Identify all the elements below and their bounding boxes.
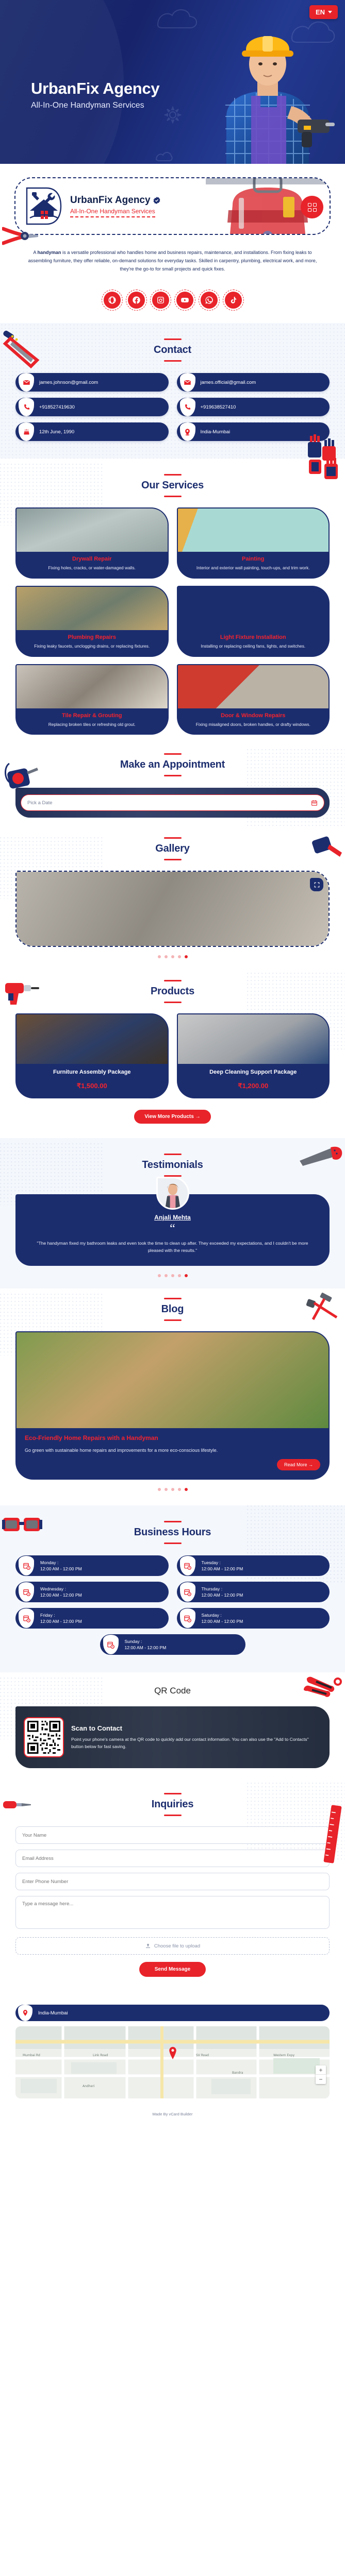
screwdriver-decoration <box>2 1792 33 1817</box>
name-input[interactable] <box>15 1826 330 1844</box>
calendar-clock-icon <box>19 1608 34 1628</box>
contact-section: Contact james.johnson@gmail.com james.of… <box>0 323 345 459</box>
contact-value: james.johnson@gmail.com <box>39 380 98 385</box>
contact-title: Contact <box>0 344 345 356</box>
email-input[interactable] <box>15 1850 330 1867</box>
gallery-image-card[interactable] <box>15 871 330 947</box>
calendar-clock-icon <box>19 1556 34 1575</box>
testimonial-author: Anjali Mehta <box>29 1214 316 1221</box>
service-image <box>178 665 329 708</box>
avatar <box>156 1177 189 1210</box>
grid-menu-icon <box>308 203 317 212</box>
brand-block: UrbanFix Agency All-In-One Handyman Serv… <box>70 195 160 217</box>
map-location-label: India-Mumbai <box>38 2010 68 2016</box>
service-image <box>17 509 168 552</box>
qr-description: Point your phone's camera at the QR code… <box>71 1736 321 1751</box>
appointment-heading: Make an Appointment <box>0 753 345 776</box>
gallery-heading: Gallery <box>0 837 345 860</box>
business-hour-row: Friday :12:00 AM - 12:00 PM <box>15 1608 169 1629</box>
contact-phone-2[interactable]: +919638527410 <box>177 398 330 416</box>
gallery-carousel-dots[interactable] <box>0 947 345 958</box>
product-price: ₹1,200.00 <box>182 1082 325 1090</box>
blog-post-title: Eco-Friendly Home Repairs with a Handyma… <box>25 1434 320 1442</box>
svg-text:Andheri: Andheri <box>83 2084 95 2088</box>
grid-menu-button[interactable] <box>301 196 323 218</box>
tape-measure-decoration <box>3 760 39 792</box>
blog-title-heading: Blog <box>0 1303 345 1315</box>
testimonials-section: Testimonials Anjali Mehta “ "The handyma… <box>0 1138 345 1288</box>
carousel-dot-active[interactable] <box>185 1274 188 1277</box>
envelope-icon <box>19 373 34 392</box>
send-message-button[interactable]: Send Message <box>139 1962 206 1977</box>
inquiry-form: Choose file to upload Send Message <box>15 1826 330 1977</box>
svg-text:Link Road: Link Road <box>93 2054 108 2057</box>
business-hour-row: Wednesday :12:00 AM - 12:00 PM <box>15 1582 169 1602</box>
map-zoom-controls[interactable]: + − <box>316 2065 326 2084</box>
product-price: ₹1,500.00 <box>21 1082 163 1090</box>
map-zoom-out-button[interactable]: − <box>316 2075 326 2084</box>
service-title: Light Fixture Installation <box>182 634 325 640</box>
map-pin-marker <box>168 2046 177 2060</box>
contact-birthday: 12th June, 1990 <box>15 422 169 441</box>
service-title: Drywall Repair <box>21 556 163 562</box>
product-image <box>17 1014 168 1064</box>
inquiries-heading: Inquiries <box>0 1793 345 1816</box>
calendar-clock-icon <box>180 1556 195 1575</box>
map-section: India-Mumbai Mumbai Rd Link Road SV Road… <box>0 2005 345 2104</box>
calendar-clock-icon <box>103 1635 119 1654</box>
business-hours-title: Business Hours <box>0 1527 345 1538</box>
day-label: Monday : <box>40 1560 169 1565</box>
location-pin-icon <box>180 422 195 441</box>
business-hours-sunday-row: Sunday :12:00 AM - 12:00 PM <box>0 1629 345 1655</box>
contact-heading: Contact <box>0 338 345 362</box>
product-image <box>178 1014 329 1064</box>
service-card[interactable]: Painting Interior and exterior wall pain… <box>177 507 330 579</box>
contact-email-2[interactable]: james.official@gmail.com <box>177 373 330 392</box>
business-hours-section: Business Hours Monday :12:00 AM - 12:00 … <box>0 1505 345 1672</box>
envelope-icon <box>180 373 195 392</box>
brand-name: UrbanFix Agency <box>70 195 160 206</box>
services-title: Our Services <box>0 480 345 492</box>
products-title: Products <box>0 986 345 997</box>
blog-card[interactable]: Eco-Friendly Home Repairs with a Handyma… <box>15 1331 330 1480</box>
qr-section: QR Code <box>0 1672 345 1783</box>
business-hour-row: Monday :12:00 AM - 12:00 PM <box>15 1555 169 1576</box>
file-upload-field[interactable]: Choose file to upload <box>15 1937 330 1955</box>
file-upload-label: Choose file to upload <box>154 1943 200 1949</box>
whatsapp-icon[interactable] <box>201 292 218 309</box>
day-label: Thursday : <box>202 1586 330 1591</box>
carousel-dot[interactable] <box>165 955 168 958</box>
intro-bold-word: handyman <box>38 250 61 255</box>
wrench-decoration <box>302 1675 342 1700</box>
svg-text:Mumbai Rd: Mumbai Rd <box>23 2054 40 2057</box>
svg-text:Bandra: Bandra <box>232 2071 243 2075</box>
heading-bar-bottom <box>164 1319 182 1321</box>
footer-credit: Made By vCard Builder <box>0 2104 345 2124</box>
testimonials-heading: Testimonials <box>0 1154 345 1177</box>
handsaw-decoration <box>1 330 45 368</box>
calendar-icon <box>311 800 318 806</box>
service-desc: Interior and exterior wall painting, tou… <box>182 565 325 571</box>
date-picker-input[interactable]: Pick a Date <box>21 794 324 811</box>
social-links <box>0 278 345 323</box>
services-grid: Drywall Repair Fixing holes, cracks, or … <box>0 497 345 735</box>
product-title: Furniture Assembly Package <box>21 1069 163 1076</box>
products-grid: Furniture Assembly Package ₹1,500.00 Dee… <box>0 1003 345 1098</box>
service-title: Painting <box>182 556 325 562</box>
appointment-section: Make an Appointment Pick a Date <box>0 749 345 832</box>
blog-heading: Blog <box>0 1298 345 1321</box>
heading-bar-top <box>164 338 182 340</box>
gallery-section: Gallery <box>0 832 345 973</box>
day-time: 12:00 AM - 12:00 PM <box>40 1592 169 1598</box>
cake-icon <box>19 422 34 441</box>
contact-value: 12th June, 1990 <box>39 429 74 435</box>
website-icon[interactable] <box>104 292 121 309</box>
blog-excerpt: Go green with sustainable home repairs a… <box>25 1447 320 1454</box>
map-location-bar: India-Mumbai <box>15 2005 330 2021</box>
product-card[interactable]: Deep Cleaning Support Package ₹1,200.00 <box>177 1013 330 1098</box>
contact-value: +919638527410 <box>201 404 236 410</box>
services-section: Our Services Drywall Repair Fixing holes… <box>0 459 345 749</box>
paint-scraper-decoration <box>310 835 344 863</box>
appointment-title: Make an Appointment <box>0 759 345 771</box>
intro-paragraph: A handyman is a versatile professional w… <box>21 248 324 273</box>
heading-bar-top <box>164 474 182 476</box>
expand-icon <box>314 882 320 888</box>
profile-section: UrbanFix Agency All-In-One Handyman Serv… <box>0 164 345 278</box>
business-hours-heading: Business Hours <box>0 1521 345 1544</box>
heading-bar-bottom <box>164 1815 182 1816</box>
heading-bar-top <box>164 1298 182 1299</box>
day-label: Sunday : <box>125 1639 245 1644</box>
intro-lead: A <box>33 250 37 255</box>
contact-phone-1[interactable]: +918527419630 <box>15 398 169 416</box>
verified-badge-icon <box>153 197 160 204</box>
contact-email-1[interactable]: james.johnson@gmail.com <box>15 373 169 392</box>
day-time: 12:00 AM - 12:00 PM <box>202 1566 330 1571</box>
day-time: 12:00 AM - 12:00 PM <box>202 1619 330 1624</box>
service-title: Plumbing Repairs <box>21 634 163 640</box>
contact-grid: james.johnson@gmail.com james.official@g… <box>0 362 345 444</box>
heading-bar-top <box>164 1154 182 1155</box>
hero-small-cloud-decoration <box>155 149 173 163</box>
service-image <box>17 665 168 708</box>
instagram-icon[interactable] <box>152 292 169 309</box>
service-title: Door & Window Repairs <box>182 713 325 719</box>
service-desc: Fixing leaky faucets, unclogging drains,… <box>21 643 163 650</box>
brand-name-text: UrbanFix Agency <box>70 195 151 206</box>
read-more-button[interactable]: Read More → <box>277 1459 320 1470</box>
heading-bar-top <box>164 980 182 981</box>
message-textarea[interactable] <box>15 1896 330 1929</box>
service-card[interactable]: Plumbing Repairs Fixing leaky faucets, u… <box>15 586 169 657</box>
carousel-dot[interactable] <box>178 1274 181 1277</box>
carousel-dot[interactable] <box>165 1274 168 1277</box>
carousel-dot[interactable] <box>178 955 181 958</box>
products-section: Products Furniture Assembly Package ₹1,5… <box>0 973 345 1138</box>
intro-rest: is a versatile professional who handles … <box>28 250 317 272</box>
quote-icon: “ <box>29 1224 316 1234</box>
map-canvas: Mumbai Rd Link Road SV Road Western Expy… <box>15 2026 330 2098</box>
testimonial-text: "The handyman fixed my bathroom leaks an… <box>29 1240 316 1255</box>
heading-bar-top <box>164 753 182 755</box>
map-view[interactable]: Mumbai Rd Link Road SV Road Western Expy… <box>15 2026 330 2098</box>
blog-image <box>17 1332 328 1428</box>
ruler-decoration <box>321 1803 345 1865</box>
youtube-icon[interactable] <box>176 292 193 309</box>
facebook-icon[interactable] <box>128 292 145 309</box>
service-desc: Replacing broken tiles or refreshing old… <box>21 721 163 728</box>
service-desc: Installing or replacing ceiling fans, li… <box>182 643 325 650</box>
qr-heading: QR Code <box>0 1686 345 1696</box>
day-label: Tuesday : <box>202 1560 330 1565</box>
carousel-dot-active[interactable] <box>185 1488 188 1491</box>
business-hour-row: Tuesday :12:00 AM - 12:00 PM <box>177 1555 330 1576</box>
heading-bar-top <box>164 837 182 839</box>
map-zoom-in-button[interactable]: + <box>316 2065 326 2075</box>
hero-banner: EN UrbanFix Agency All-In-One Handyman S… <box>0 0 345 164</box>
hero-title: UrbanFix Agency <box>31 79 159 98</box>
services-heading: Our Services <box>0 474 345 497</box>
gloves-decoration-2 <box>307 456 344 487</box>
inquiries-title: Inquiries <box>0 1799 345 1810</box>
carousel-dot[interactable] <box>171 1488 174 1491</box>
heading-bar-bottom <box>164 775 182 776</box>
avatar-photo <box>158 1178 188 1208</box>
products-heading: Products <box>0 980 345 1003</box>
testimonial-carousel-dots[interactable] <box>0 1266 345 1277</box>
blog-carousel-dots[interactable] <box>0 1480 345 1491</box>
day-label: Wednesday : <box>40 1586 169 1591</box>
hammer-decoration <box>306 1293 342 1324</box>
handsaw-decoration-2 <box>299 1145 343 1170</box>
carousel-dot[interactable] <box>158 1274 161 1277</box>
qr-code-image[interactable] <box>24 1717 64 1757</box>
heading-bar-top <box>164 1521 182 1522</box>
qr-card: Scan to Contact Point your phone's camer… <box>15 1706 330 1768</box>
testimonial-card-wrap: Anjali Mehta “ "The handyman fixed my ba… <box>15 1194 330 1265</box>
svg-text:Western Expy: Western Expy <box>273 2054 295 2057</box>
tiktok-icon[interactable] <box>225 292 242 309</box>
view-more-products-button[interactable]: View More Products → <box>134 1110 210 1124</box>
brand-tagline: All-In-One Handyman Services <box>70 208 155 217</box>
service-image <box>17 587 168 630</box>
contact-value: +918527419630 <box>39 404 75 410</box>
day-time: 12:00 AM - 12:00 PM <box>202 1592 330 1598</box>
product-title: Deep Cleaning Support Package <box>182 1069 325 1076</box>
carousel-dot[interactable] <box>158 1488 161 1491</box>
vcard-page: EN UrbanFix Agency All-In-One Handyman S… <box>0 0 345 2124</box>
business-hours-grid: Monday :12:00 AM - 12:00 PM Tuesday :12:… <box>0 1544 345 1629</box>
qr-code-svg <box>27 1721 60 1754</box>
svg-text:SV Road: SV Road <box>196 2054 209 2057</box>
date-placeholder: Pick a Date <box>27 800 53 806</box>
service-card[interactable]: Drywall Repair Fixing holes, cracks, or … <box>15 507 169 579</box>
service-card[interactable]: Tile Repair & Grouting Replacing broken … <box>15 664 169 735</box>
carousel-dot[interactable] <box>158 955 161 958</box>
testimonials-title: Testimonials <box>0 1159 345 1171</box>
handyman-hero-photo <box>195 0 335 164</box>
carousel-dot[interactable] <box>171 1274 174 1277</box>
location-pin-icon <box>18 2005 32 2021</box>
heading-bar-top <box>164 1793 182 1794</box>
service-image <box>178 509 329 552</box>
upload-icon <box>145 1943 151 1949</box>
hero-gear-decoration <box>164 106 182 124</box>
phone-icon <box>19 398 34 416</box>
qr-text-block: Scan to Contact Point your phone's camer… <box>71 1724 321 1751</box>
hero-cloud-decoration <box>155 4 201 35</box>
hero-text-block: UrbanFix Agency All-In-One Handyman Serv… <box>31 79 159 110</box>
inquiries-section: Inquiries Choose file to upload Send Mes… <box>0 1783 345 1991</box>
service-card[interactable]: Door & Window Repairs Fixing misaligned … <box>177 664 330 735</box>
gallery-title: Gallery <box>0 843 345 855</box>
day-label: Saturday : <box>202 1613 330 1618</box>
contact-value: India-Mumbai <box>201 429 231 435</box>
heading-bar-bottom <box>164 859 182 860</box>
service-desc: Fixing holes, cracks, or water-damaged w… <box>21 565 163 571</box>
expand-button[interactable] <box>310 878 323 891</box>
gallery-image <box>17 872 328 946</box>
day-time: 12:00 AM - 12:00 PM <box>40 1619 169 1624</box>
service-desc: Fixing misaligned doors, broken handles,… <box>182 721 325 728</box>
service-image <box>178 587 329 630</box>
carousel-dot-active[interactable] <box>185 955 188 958</box>
qr-title: Scan to Contact <box>71 1724 321 1732</box>
phone-icon <box>180 398 195 416</box>
contact-value: james.official@gmail.com <box>201 380 256 385</box>
calendar-clock-icon <box>180 1582 195 1602</box>
carousel-dot[interactable] <box>171 955 174 958</box>
calendar-clock-icon <box>19 1582 34 1602</box>
carousel-dot[interactable] <box>165 1488 168 1491</box>
day-label: Friday : <box>40 1613 169 1618</box>
service-title: Tile Repair & Grouting <box>21 713 163 719</box>
company-logo-icon <box>24 184 64 228</box>
product-card[interactable]: Furniture Assembly Package ₹1,500.00 <box>15 1013 169 1098</box>
phone-input[interactable] <box>15 1873 330 1890</box>
business-hour-row: Thursday :12:00 AM - 12:00 PM <box>177 1582 330 1602</box>
business-hour-row-sunday: Sunday :12:00 AM - 12:00 PM <box>100 1634 245 1655</box>
blog-section: Blog Eco-Friendly Home Repairs with a Ha… <box>0 1289 345 1505</box>
day-time: 12:00 AM - 12:00 PM <box>40 1566 169 1571</box>
business-hour-row: Saturday :12:00 AM - 12:00 PM <box>177 1608 330 1629</box>
service-card[interactable]: Light Fixture Installation Installing or… <box>177 586 330 657</box>
profile-card: UrbanFix Agency All-In-One Handyman Serv… <box>14 177 331 235</box>
safety-goggles-decoration <box>2 1512 42 1540</box>
hero-subtitle: All-In-One Handyman Services <box>31 101 159 110</box>
carousel-dot[interactable] <box>178 1488 181 1491</box>
calendar-clock-icon <box>180 1608 195 1628</box>
drill-decoration <box>3 979 41 1008</box>
appointment-card: Pick a Date <box>15 788 330 818</box>
day-time: 12:00 AM - 12:00 PM <box>125 1645 245 1650</box>
